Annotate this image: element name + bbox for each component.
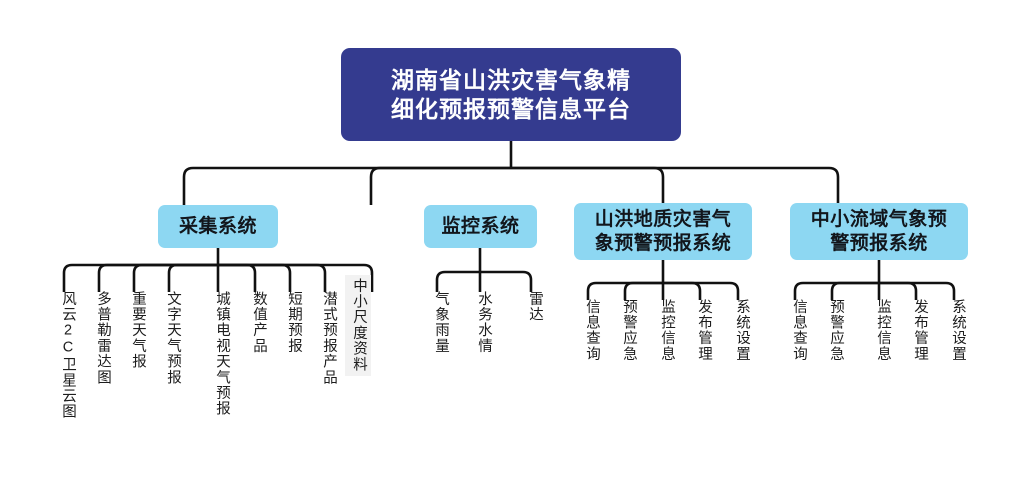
branch-node-basin-weather-warning[interactable]: 中小流域气象预 警预报系统 (790, 203, 968, 260)
leaf-basin-4[interactable]: 发布管理 (908, 296, 932, 366)
leaf-flood-1[interactable]: 信息查询 (580, 296, 604, 366)
leaf-flood-2[interactable]: 预警应急 (617, 296, 641, 366)
leaf-collection-5[interactable]: 城镇电视天气预报 (210, 288, 234, 421)
leaf-monitoring-3[interactable]: 雷达 (523, 288, 547, 326)
leaf-collection-7[interactable]: 短期预报 (282, 288, 306, 358)
leaf-collection-1[interactable]: 风云2C卫星云图 (56, 288, 80, 424)
leaf-basin-1[interactable]: 信息查询 (787, 296, 811, 366)
leaf-monitoring-1[interactable]: 气象雨量 (429, 288, 453, 358)
root-node-platform[interactable]: 湖南省山洪灾害气象精 细化预报预警信息平台 (341, 48, 681, 141)
level2-drop-flood (511, 168, 663, 205)
branch-node-collection[interactable]: 采集系统 (158, 205, 278, 248)
leaf-collection-2[interactable]: 多普勒雷达图 (91, 288, 115, 389)
leaf-flood-3[interactable]: 监控信息 (655, 296, 679, 366)
leaf-collection-8[interactable]: 潜式预报产品 (317, 288, 341, 389)
leaf-flood-5[interactable]: 系统设置 (730, 296, 754, 366)
diagram-canvas: 湖南省山洪灾害气象精 细化预报预警信息平台 采集系统 监控系统 山洪地质灾害气 … (0, 0, 1022, 482)
collection-drop-2 (99, 265, 218, 292)
leaf-flood-4[interactable]: 发布管理 (692, 296, 716, 366)
leaf-basin-3[interactable]: 监控信息 (871, 296, 895, 366)
level2-drop-monitoring (371, 168, 511, 205)
branch-node-flood-geo-warning[interactable]: 山洪地质灾害气 象预警预报系统 (574, 203, 752, 260)
leaf-collection-6[interactable]: 数值产品 (247, 288, 271, 358)
leaf-collection-3[interactable]: 重要天气报 (126, 288, 150, 374)
level2-bus (184, 168, 838, 205)
leaf-basin-5[interactable]: 系统设置 (946, 296, 970, 366)
leaf-collection-9-highlighted[interactable]: 中小尺度资料 (345, 275, 371, 376)
leaf-collection-4[interactable]: 文字天气预报 (161, 288, 185, 389)
collection-drop-8 (218, 265, 325, 292)
leaf-monitoring-2[interactable]: 水务水情 (472, 288, 496, 358)
leaf-basin-2[interactable]: 预警应急 (824, 296, 848, 366)
branch-node-monitoring[interactable]: 监控系统 (424, 205, 537, 248)
